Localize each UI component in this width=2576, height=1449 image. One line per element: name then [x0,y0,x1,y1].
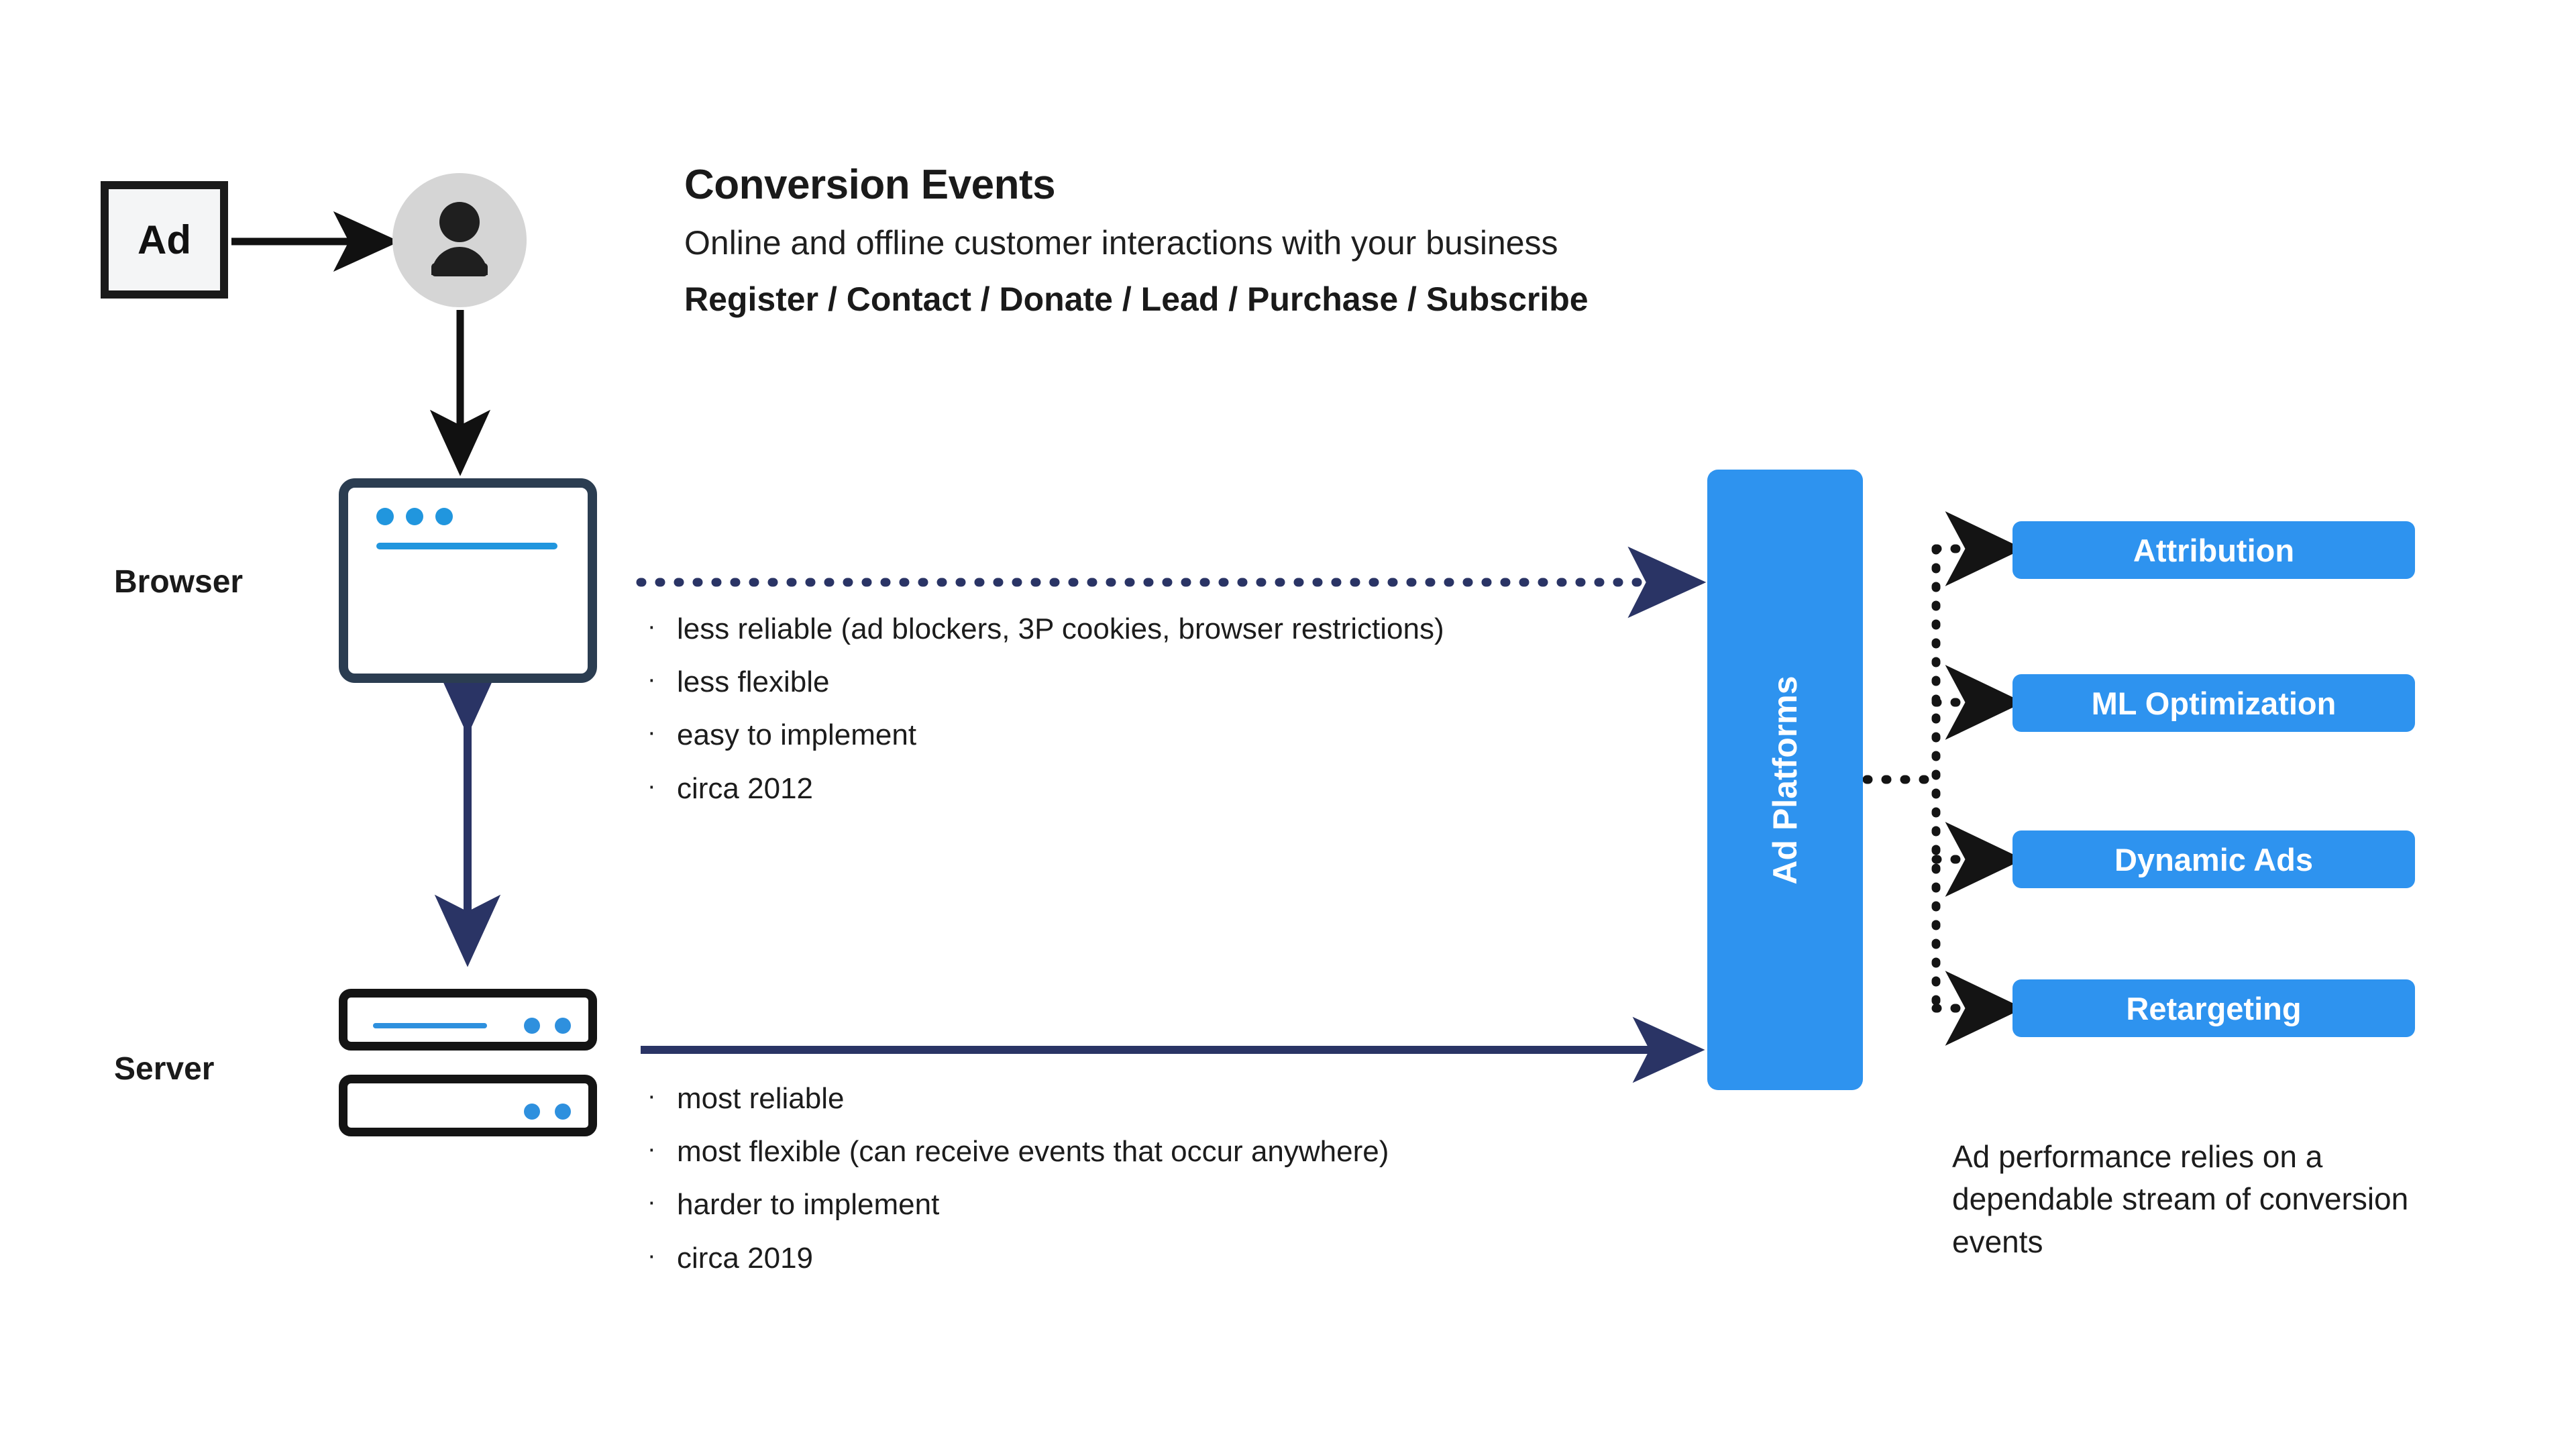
bullet-icon: · [647,1189,677,1216]
server-dot-icon [524,1018,540,1034]
row-label-server: Server [114,1051,214,1087]
conversion-events-block: Conversion Events Online and offline cus… [684,161,1825,319]
browser-dot-icon [435,508,453,525]
browser-bullet-list: · less reliable (ad blockers, 3P cookies… [647,614,1444,826]
platform-box-label: Attribution [2133,532,2294,569]
list-item: · less flexible [647,667,1444,698]
bullet-icon: · [647,720,677,747]
list-item-text: harder to implement [677,1189,939,1220]
row-label-browser: Browser [114,563,243,600]
ad-platforms-bar: Ad Platforms [1707,470,1863,1090]
list-item-text: most reliable [677,1083,844,1114]
platform-box-attribution: Attribution [2012,521,2415,579]
server-line-icon [373,1023,487,1028]
platform-box-ml-optimization: ML Optimization [2012,674,2415,732]
server-rack-icon [339,989,597,1136]
browser-window-icon [339,478,597,683]
ad-box: Ad [101,181,228,299]
conversion-event-types: Register / Contact / Donate / Lead / Pur… [684,280,1825,319]
platform-box-dynamic-ads: Dynamic Ads [2012,830,2415,888]
browser-address-bar [376,543,557,549]
list-item: · less reliable (ad blockers, 3P cookies… [647,614,1444,645]
bullet-icon: · [647,614,677,641]
list-item-text: circa 2012 [677,773,813,804]
list-item: · easy to implement [647,720,1444,751]
conversion-subtitle: Online and offline customer interactions… [684,223,1825,262]
list-item: · circa 2012 [647,773,1444,804]
server-bullet-list: · most reliable · most flexible (can rec… [647,1083,1389,1296]
browser-dot-icon [406,508,423,525]
server-dot-icon [524,1104,540,1120]
list-item-text: less reliable (ad blockers, 3P cookies, … [677,614,1444,645]
ad-platforms-label: Ad Platforms [1766,676,1805,884]
server-unit-top [339,989,597,1051]
list-item: · circa 2019 [647,1243,1389,1274]
server-dot-icon [555,1104,571,1120]
diagram-canvas: Ad Conversion Events Online and offline … [0,0,2576,1449]
platform-box-retargeting: Retargeting [2012,979,2415,1037]
list-item: · most reliable [647,1083,1389,1114]
platform-box-label: Dynamic Ads [2114,841,2313,878]
list-item: · most flexible (can receive events that… [647,1136,1389,1167]
platform-box-label: Retargeting [2126,990,2301,1027]
list-item-text: less flexible [677,667,829,698]
bullet-icon: · [647,667,677,694]
bullet-icon: · [647,1136,677,1163]
avatar [392,173,527,307]
list-item-text: circa 2019 [677,1243,813,1274]
platform-box-label: ML Optimization [2092,685,2337,722]
browser-dot-icon [376,508,394,525]
bullet-icon: · [647,1243,677,1270]
page-title: Conversion Events [684,161,1825,209]
caption-text: Ad performance relies on a dependable st… [1952,1136,2462,1263]
bullet-icon: · [647,773,677,800]
list-item-text: most flexible (can receive events that o… [677,1136,1389,1167]
bullet-icon: · [647,1083,677,1110]
ad-box-label: Ad [138,217,191,263]
person-icon [392,173,527,307]
list-item: · harder to implement [647,1189,1389,1220]
list-item-text: easy to implement [677,720,916,751]
server-unit-bottom [339,1075,597,1136]
server-dot-icon [555,1018,571,1034]
